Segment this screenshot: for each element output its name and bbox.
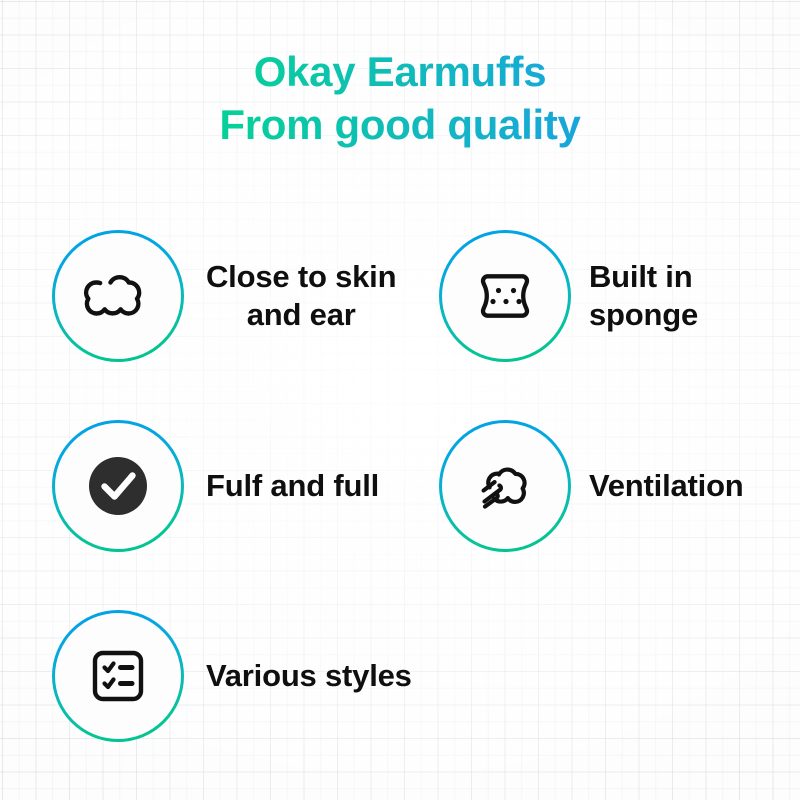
page-title: Okay Earmuffs From good quality: [0, 45, 800, 151]
feature-row-1: Close to skin and ear Built in sponge: [0, 230, 800, 420]
feature-icon-badge: [52, 420, 184, 552]
cloud-icon: [55, 233, 181, 359]
page-title-line-2: From good quality: [0, 98, 800, 151]
feature-icon-badge: [52, 230, 184, 362]
feature-row-3: Various styles: [0, 610, 800, 800]
feature-item-built-in-sponge[interactable]: Built in sponge: [439, 230, 698, 362]
feature-list: Close to skin and ear Built in sponge: [0, 230, 800, 800]
wind-cloud-icon: [442, 423, 568, 549]
feature-icon-badge: [439, 420, 571, 552]
feature-label: Ventilation: [589, 467, 744, 505]
checklist-icon: [55, 613, 181, 739]
feature-item-fulf-and-full[interactable]: Fulf and full: [52, 420, 379, 552]
feature-row-2: Fulf and full Ventilation: [0, 420, 800, 610]
feature-label: Various styles: [206, 657, 412, 695]
feature-icon-badge: [52, 610, 184, 742]
feature-label: Close to skin and ear: [206, 258, 396, 334]
feature-item-ventilation[interactable]: Ventilation: [439, 420, 744, 552]
check-circle-icon: [55, 423, 181, 549]
feature-label: Fulf and full: [206, 467, 379, 505]
sponge-icon: [442, 233, 568, 359]
feature-label: Built in sponge: [589, 258, 698, 334]
page-title-line-1: Okay Earmuffs: [0, 45, 800, 98]
feature-item-close-to-skin[interactable]: Close to skin and ear: [52, 230, 396, 362]
feature-icon-badge: [439, 230, 571, 362]
feature-item-various-styles[interactable]: Various styles: [52, 610, 412, 742]
